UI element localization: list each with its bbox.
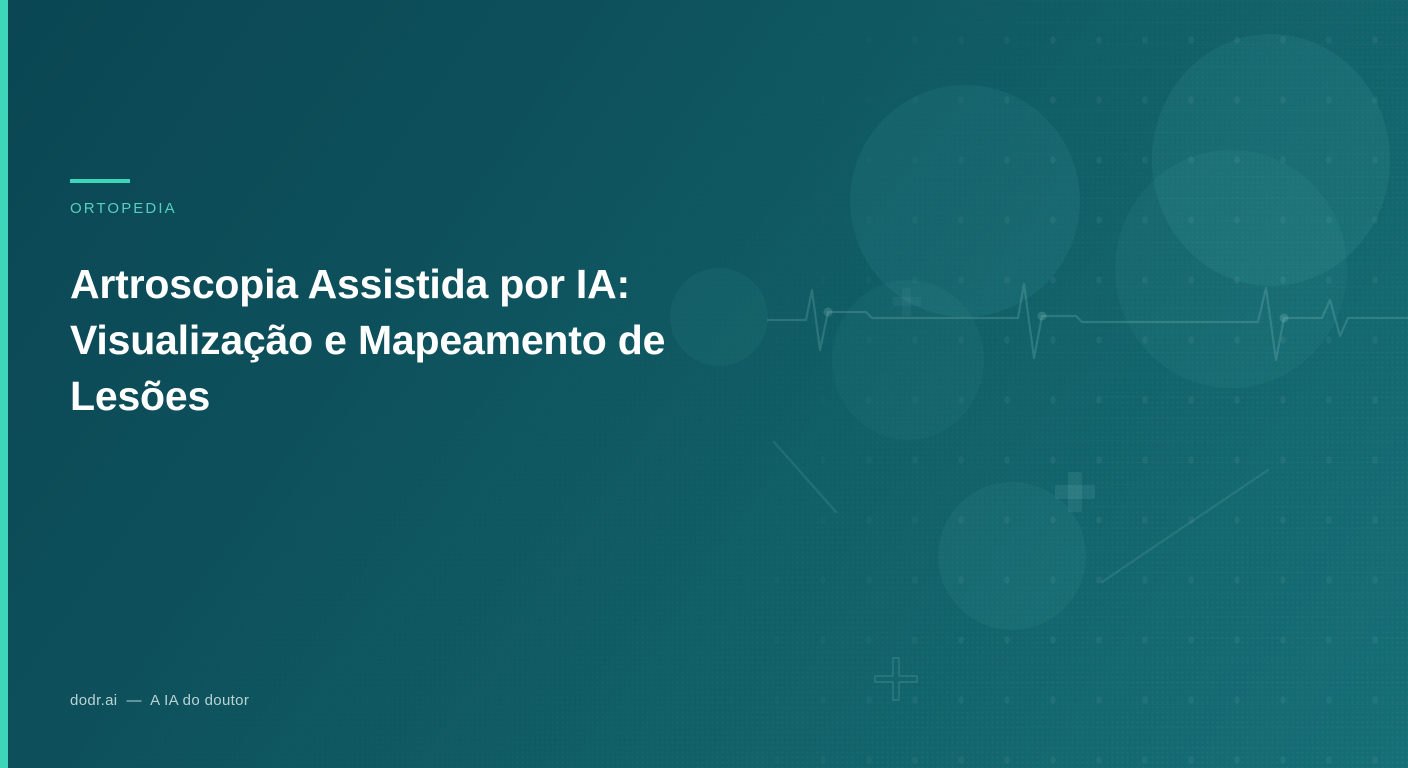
category-eyebrow-label: ORTOPEDIA bbox=[70, 200, 177, 217]
left-accent-rail bbox=[0, 0, 8, 768]
medical-cross-outline-icon bbox=[875, 658, 917, 700]
eyebrow-accent-rule bbox=[70, 179, 130, 183]
slide-content: ORTOPEDIA Artroscopia Assistida por IA: … bbox=[70, 0, 830, 768]
medical-cross-filled-icon bbox=[1055, 472, 1095, 512]
diagonal-stroke-2 bbox=[1102, 470, 1268, 582]
presentation-slide: ORTOPEDIA Artroscopia Assistida por IA: … bbox=[0, 0, 1408, 768]
footer-branding: dodr.ai — A IA do doutor bbox=[70, 692, 249, 709]
slide-title: Artroscopia Assistida por IA: Visualizaç… bbox=[70, 256, 770, 424]
medical-cross-faint-icon bbox=[893, 288, 921, 316]
